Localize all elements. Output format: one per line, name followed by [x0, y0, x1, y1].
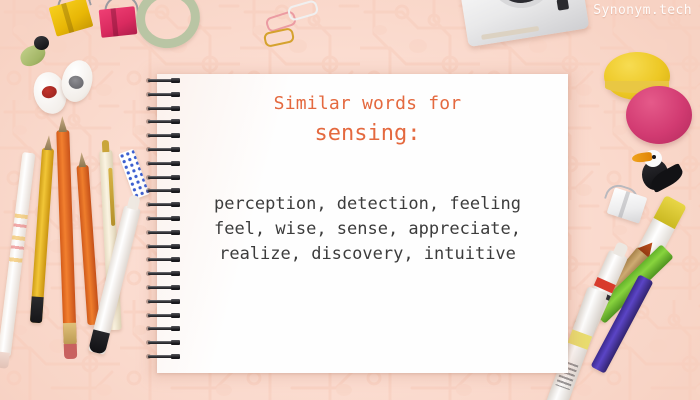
pink-macaron [626, 86, 692, 144]
spiral-ring [146, 202, 180, 207]
spiral-ring [146, 340, 180, 345]
spiral-ring [146, 147, 180, 152]
spiral-ring [146, 354, 180, 359]
headword-label: sensing: [180, 118, 555, 150]
synonym-list: perception, detection, feeling feel, wis… [180, 192, 555, 267]
spiral-ring [146, 175, 180, 180]
spiral-ring [146, 188, 180, 193]
similar-words-label: Similar words for [180, 92, 555, 116]
spiral-ring [146, 326, 180, 331]
synonym-line-2: feel, wise, sense, appreciate, [180, 217, 555, 242]
spiral-ring [146, 299, 180, 304]
spiral-ring [146, 133, 180, 138]
spiral-ring [146, 78, 180, 83]
pink-binder-clip [99, 6, 138, 38]
desk-scene: Similar words for sensing: perception, d… [0, 0, 700, 400]
spiral-ring [146, 313, 180, 318]
spiral-ring [146, 119, 180, 124]
spiral-ring [146, 106, 180, 111]
spiral-ring [146, 216, 180, 221]
synonym-line-3: realize, discovery, intuitive [180, 242, 555, 267]
spiral-ring [146, 161, 180, 166]
spiral-binding [146, 78, 184, 372]
spiral-ring [146, 257, 180, 262]
synonym-line-1: perception, detection, feeling [180, 192, 555, 217]
spiral-ring [146, 271, 180, 276]
notepad-text-block: Similar words for sensing: perception, d… [180, 92, 555, 267]
site-watermark: Synonym.tech [593, 3, 692, 18]
spiral-ring [146, 285, 180, 290]
spiral-ring [146, 92, 180, 97]
spiral-ring [146, 230, 180, 235]
spiral-ring [146, 244, 180, 249]
green-bird-figurine [20, 36, 50, 66]
